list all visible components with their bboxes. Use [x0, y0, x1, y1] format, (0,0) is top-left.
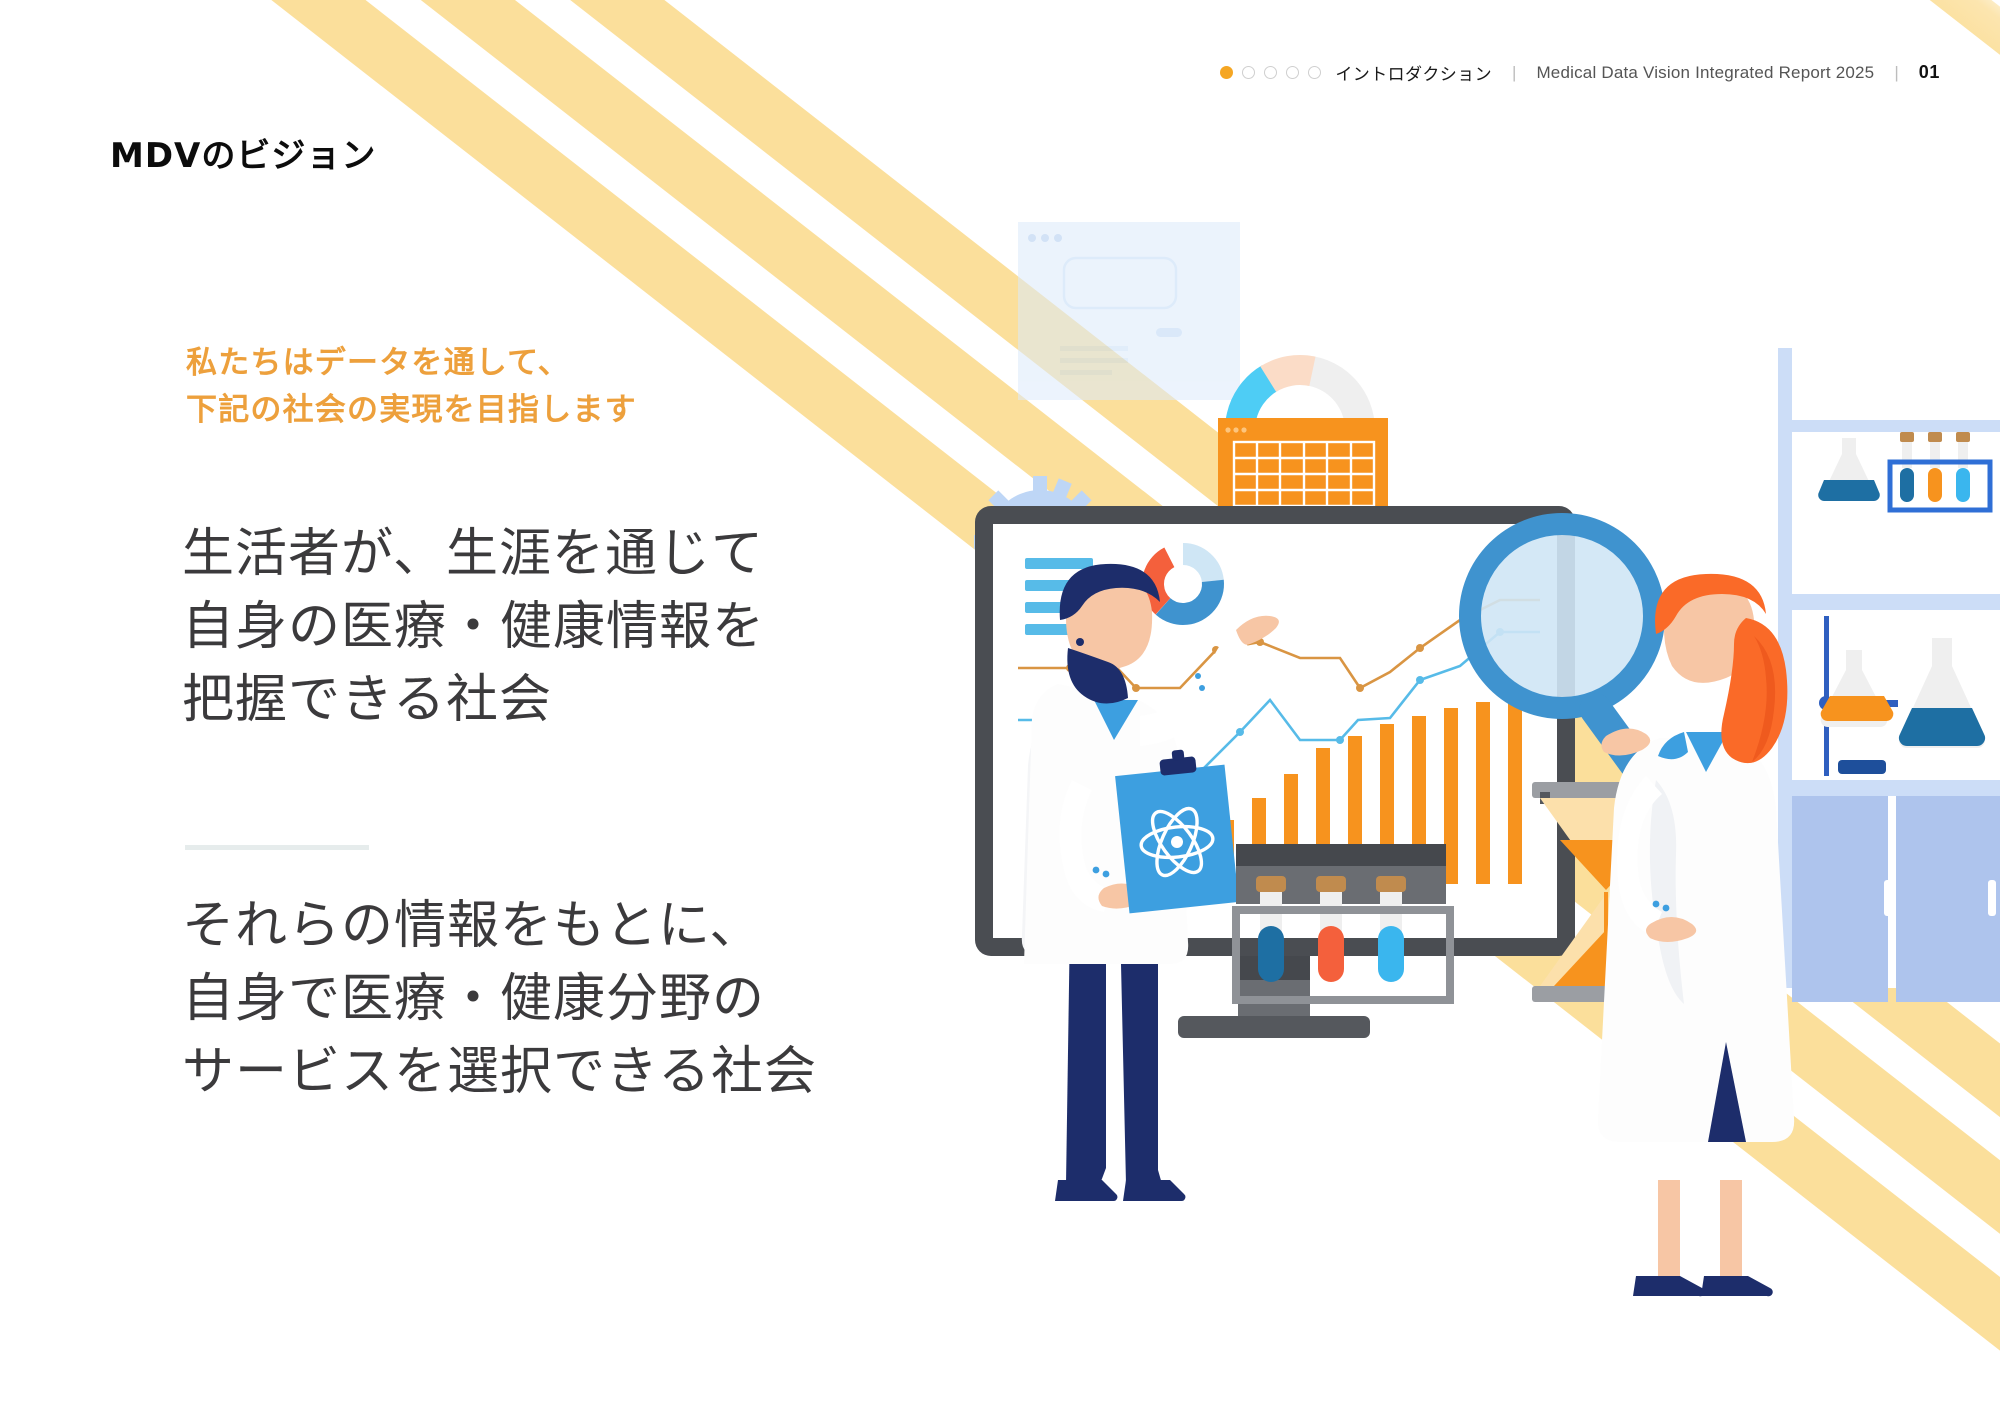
progress-dot-1[interactable] [1220, 66, 1233, 79]
section-progress-dots [1220, 66, 1321, 79]
statement-divider [185, 845, 369, 850]
page-header: イントロダクション | Medical Data Vision Integrat… [1220, 60, 1940, 85]
medical-data-analysis-illustration [940, 180, 2000, 1415]
header-page-number: 01 [1919, 62, 1940, 83]
lead-line-1: 私たちはデータを通して、 [186, 340, 637, 387]
progress-dot-5[interactable] [1308, 66, 1321, 79]
progress-dot-2[interactable] [1242, 66, 1255, 79]
vision-statement-1: 生活者が、生涯を通じて 自身の医療・健康情報を 把握できる社会 [182, 518, 765, 736]
header-report-title: Medical Data Vision Integrated Report 20… [1536, 63, 1874, 83]
header-separator-1: | [1512, 63, 1516, 83]
lab-shelf-flasks [1778, 348, 2000, 1002]
page-title: MDVのビジョン [110, 128, 376, 177]
header-section-label: イントロダクション [1335, 60, 1492, 85]
lead-line-2: 下記の社会の実現を目指します [186, 387, 637, 434]
header-separator-2: | [1894, 63, 1898, 83]
slide-page: イントロダクション | Medical Data Vision Integrat… [0, 0, 2000, 1415]
browser-window-mockup [1018, 222, 1240, 400]
vision-statement-2: それらの情報をもとに、 自身で医療・健康分野の サービスを選択できる社会 [182, 890, 817, 1108]
progress-dot-3[interactable] [1264, 66, 1277, 79]
lead-paragraph: 私たちはデータを通して、 下記の社会の実現を目指します [186, 340, 637, 434]
lab-cabinet [1792, 796, 2000, 1002]
progress-dot-4[interactable] [1286, 66, 1299, 79]
